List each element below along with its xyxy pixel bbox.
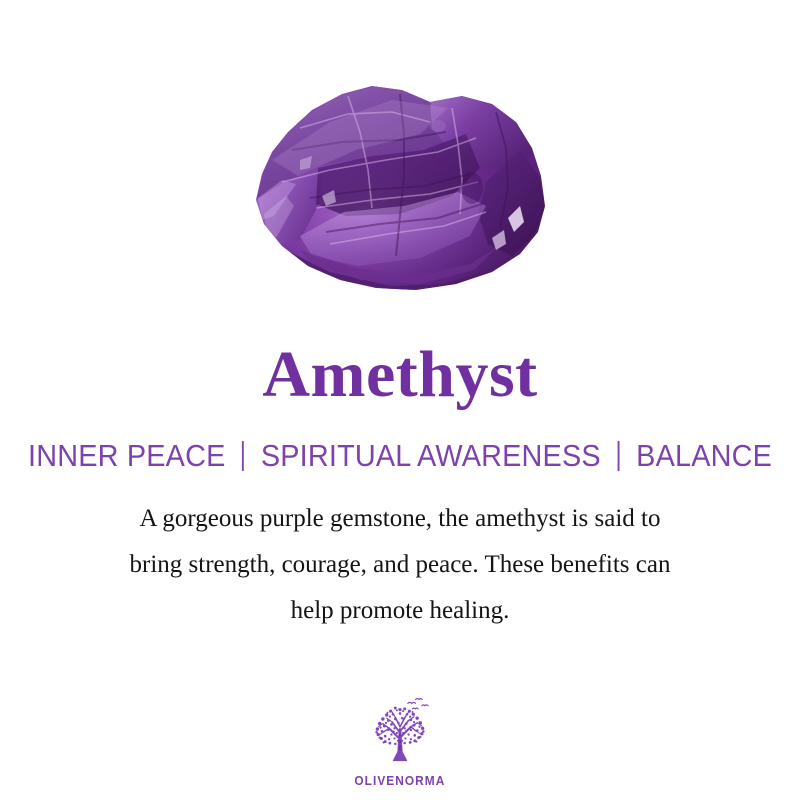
description-text: A gorgeous purple gemstone, the amethyst…	[50, 496, 750, 634]
description-line: bring strength, courage, and peace. Thes…	[50, 542, 750, 588]
keyword-separator	[618, 441, 620, 471]
description-line: help promote healing.	[50, 588, 750, 634]
amethyst-gemstone-icon	[0, 0, 800, 320]
keyword-separator	[242, 441, 244, 471]
description-line: A gorgeous purple gemstone, the amethyst…	[50, 496, 750, 542]
keyword-balance: BALANCE	[631, 438, 778, 474]
tree-icon	[360, 694, 440, 772]
brand-wordmark: OLIVENORMA	[355, 774, 446, 788]
keyword-list: INNER PEACE SPIRITUAL AWARENESS BALANCE	[22, 438, 777, 474]
keyword-spiritual-awareness: SPIRITUAL AWARENESS	[255, 438, 606, 474]
page-title: Amethyst	[262, 342, 537, 408]
amethyst-info-card: Amethyst INNER PEACE SPIRITUAL AWARENESS…	[0, 0, 800, 800]
keyword-inner-peace: INNER PEACE	[22, 438, 231, 474]
brand-logo: OLIVENORMA	[0, 694, 800, 788]
gemstone-image-container	[0, 0, 800, 320]
